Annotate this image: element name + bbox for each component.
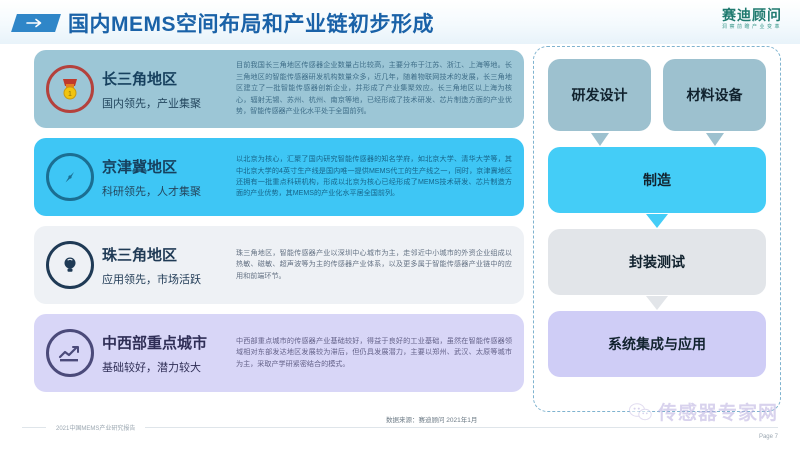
region-tagline: 基础较好，潜力较大 <box>102 359 230 375</box>
arrow-down-icon <box>706 133 724 146</box>
flow-node-manufacturing[interactable]: 制造 <box>548 147 766 213</box>
flow-node-materials-equipment[interactable]: 材料设备 <box>663 59 766 131</box>
region-description: 珠三角地区，智能传感器产业以深圳中心城市为主，走邻近中小城市的外资企业组成以热敏… <box>230 248 524 282</box>
compass-glyph <box>59 166 81 188</box>
brand-logo-name: 赛迪顾问 <box>722 8 782 22</box>
arrow-down-icon <box>591 133 609 146</box>
flow-node-rd-design[interactable]: 研发设计 <box>548 59 651 131</box>
flow-arrow-row-1 <box>548 131 766 147</box>
region-icon-wrap <box>42 241 98 289</box>
brand-logo-tagline: 洞察前瞻产业变革 <box>722 25 782 30</box>
growth-chart-icon <box>46 329 94 377</box>
medal-icon: 1 <box>46 65 94 113</box>
arrow-right-icon <box>11 14 61 32</box>
data-source-note: 数据来源：赛迪顾问 2021年1月 <box>386 414 477 424</box>
medal-glyph: 1 <box>59 77 81 101</box>
flow-node-system-integration[interactable]: 系统集成与应用 <box>548 311 766 377</box>
region-name: 长三角地区 <box>102 68 230 89</box>
footer-bar: 2021中国MEMS产业研究报告 <box>22 427 778 428</box>
arrow-cell <box>548 131 651 147</box>
arrow-right-glyph <box>26 18 46 28</box>
footer-divider-left <box>22 427 46 428</box>
page-header: 国内MEMS空间布局和产业链初步形成 赛迪顾问 洞察前瞻产业变革 <box>0 0 800 44</box>
lightbulb-idea-icon <box>46 241 94 289</box>
region-heading: 珠三角地区 应用领先，市场活跃 <box>98 244 230 287</box>
region-heading: 中西部重点城市 基础较好，潜力较大 <box>98 332 230 375</box>
region-icon-wrap: 1 <box>42 65 98 113</box>
region-description: 中西部重点城市的传感器产业基础较好，得益于良好的工业基础，虽然在智能传感器领域相… <box>230 336 524 370</box>
region-description: 以北京为核心，汇聚了国内研究智能传感器的知名学府，如北京大学、清华大学等，其中北… <box>230 154 524 200</box>
footer-divider-right <box>145 427 778 428</box>
region-icon-wrap <box>42 329 98 377</box>
page-title: 国内MEMS空间布局和产业链初步形成 <box>68 8 434 38</box>
industry-chain-flow: 研发设计 材料设备 制造 封装测试 系统集成与应用 <box>533 46 781 412</box>
region-card-pearl-delta[interactable]: 珠三角地区 应用领先，市场活跃 珠三角地区，智能传感器产业以深圳中心城市为主，走… <box>34 226 524 304</box>
arrow-down-icon <box>646 214 668 228</box>
region-tagline: 国内领先，产业集聚 <box>102 95 230 111</box>
region-card-central-west[interactable]: 中西部重点城市 基础较好，潜力较大 中西部重点城市的传感器产业基础较好，得益于良… <box>34 314 524 392</box>
compass-icon <box>46 153 94 201</box>
region-name: 珠三角地区 <box>102 244 230 265</box>
flow-arrow-row-2 <box>548 213 766 229</box>
wechat-icon <box>629 402 653 422</box>
region-tagline: 应用领先，市场活跃 <box>102 271 230 287</box>
svg-text:1: 1 <box>68 91 72 98</box>
arrow-cell <box>548 295 766 311</box>
flow-arrow-row-3 <box>548 295 766 311</box>
arrow-cell <box>663 131 766 147</box>
watermark-text: 传感器专家网 <box>658 398 778 425</box>
watermark: 传感器专家网 <box>629 398 778 425</box>
page-number: Page 7 <box>759 434 778 440</box>
flow-top-row: 研发设计 材料设备 <box>548 59 766 131</box>
arrow-down-icon <box>646 296 668 310</box>
arrow-cell <box>548 213 766 229</box>
region-card-yangtze-delta[interactable]: 1 长三角地区 国内领先，产业集聚 目前我国长三角地区传感器企业数量占比较高，主… <box>34 50 524 128</box>
region-icon-wrap <box>42 153 98 201</box>
region-card-jingjinji[interactable]: 京津冀地区 科研领先，人才集聚 以北京为核心，汇聚了国内研究智能传感器的知名学府… <box>34 138 524 216</box>
report-title-footer: 2021中国MEMS产业研究报告 <box>46 423 145 432</box>
lightbulb-glyph <box>59 254 81 276</box>
growth-chart-glyph <box>58 343 82 363</box>
region-description: 目前我国长三角地区传感器企业数量占比较高，主要分布于江苏、浙江、上海等地。长三角… <box>230 60 524 117</box>
flow-node-packaging-testing[interactable]: 封装测试 <box>548 229 766 295</box>
region-card-list: 1 长三角地区 国内领先，产业集聚 目前我国长三角地区传感器企业数量占比较高，主… <box>34 50 524 402</box>
region-heading: 京津冀地区 科研领先，人才集聚 <box>98 156 230 199</box>
region-heading: 长三角地区 国内领先，产业集聚 <box>98 68 230 111</box>
region-name: 京津冀地区 <box>102 156 230 177</box>
region-name: 中西部重点城市 <box>102 332 230 353</box>
brand-logo: 赛迪顾问 洞察前瞻产业变革 <box>722 8 782 30</box>
region-tagline: 科研领先，人才集聚 <box>102 183 230 199</box>
